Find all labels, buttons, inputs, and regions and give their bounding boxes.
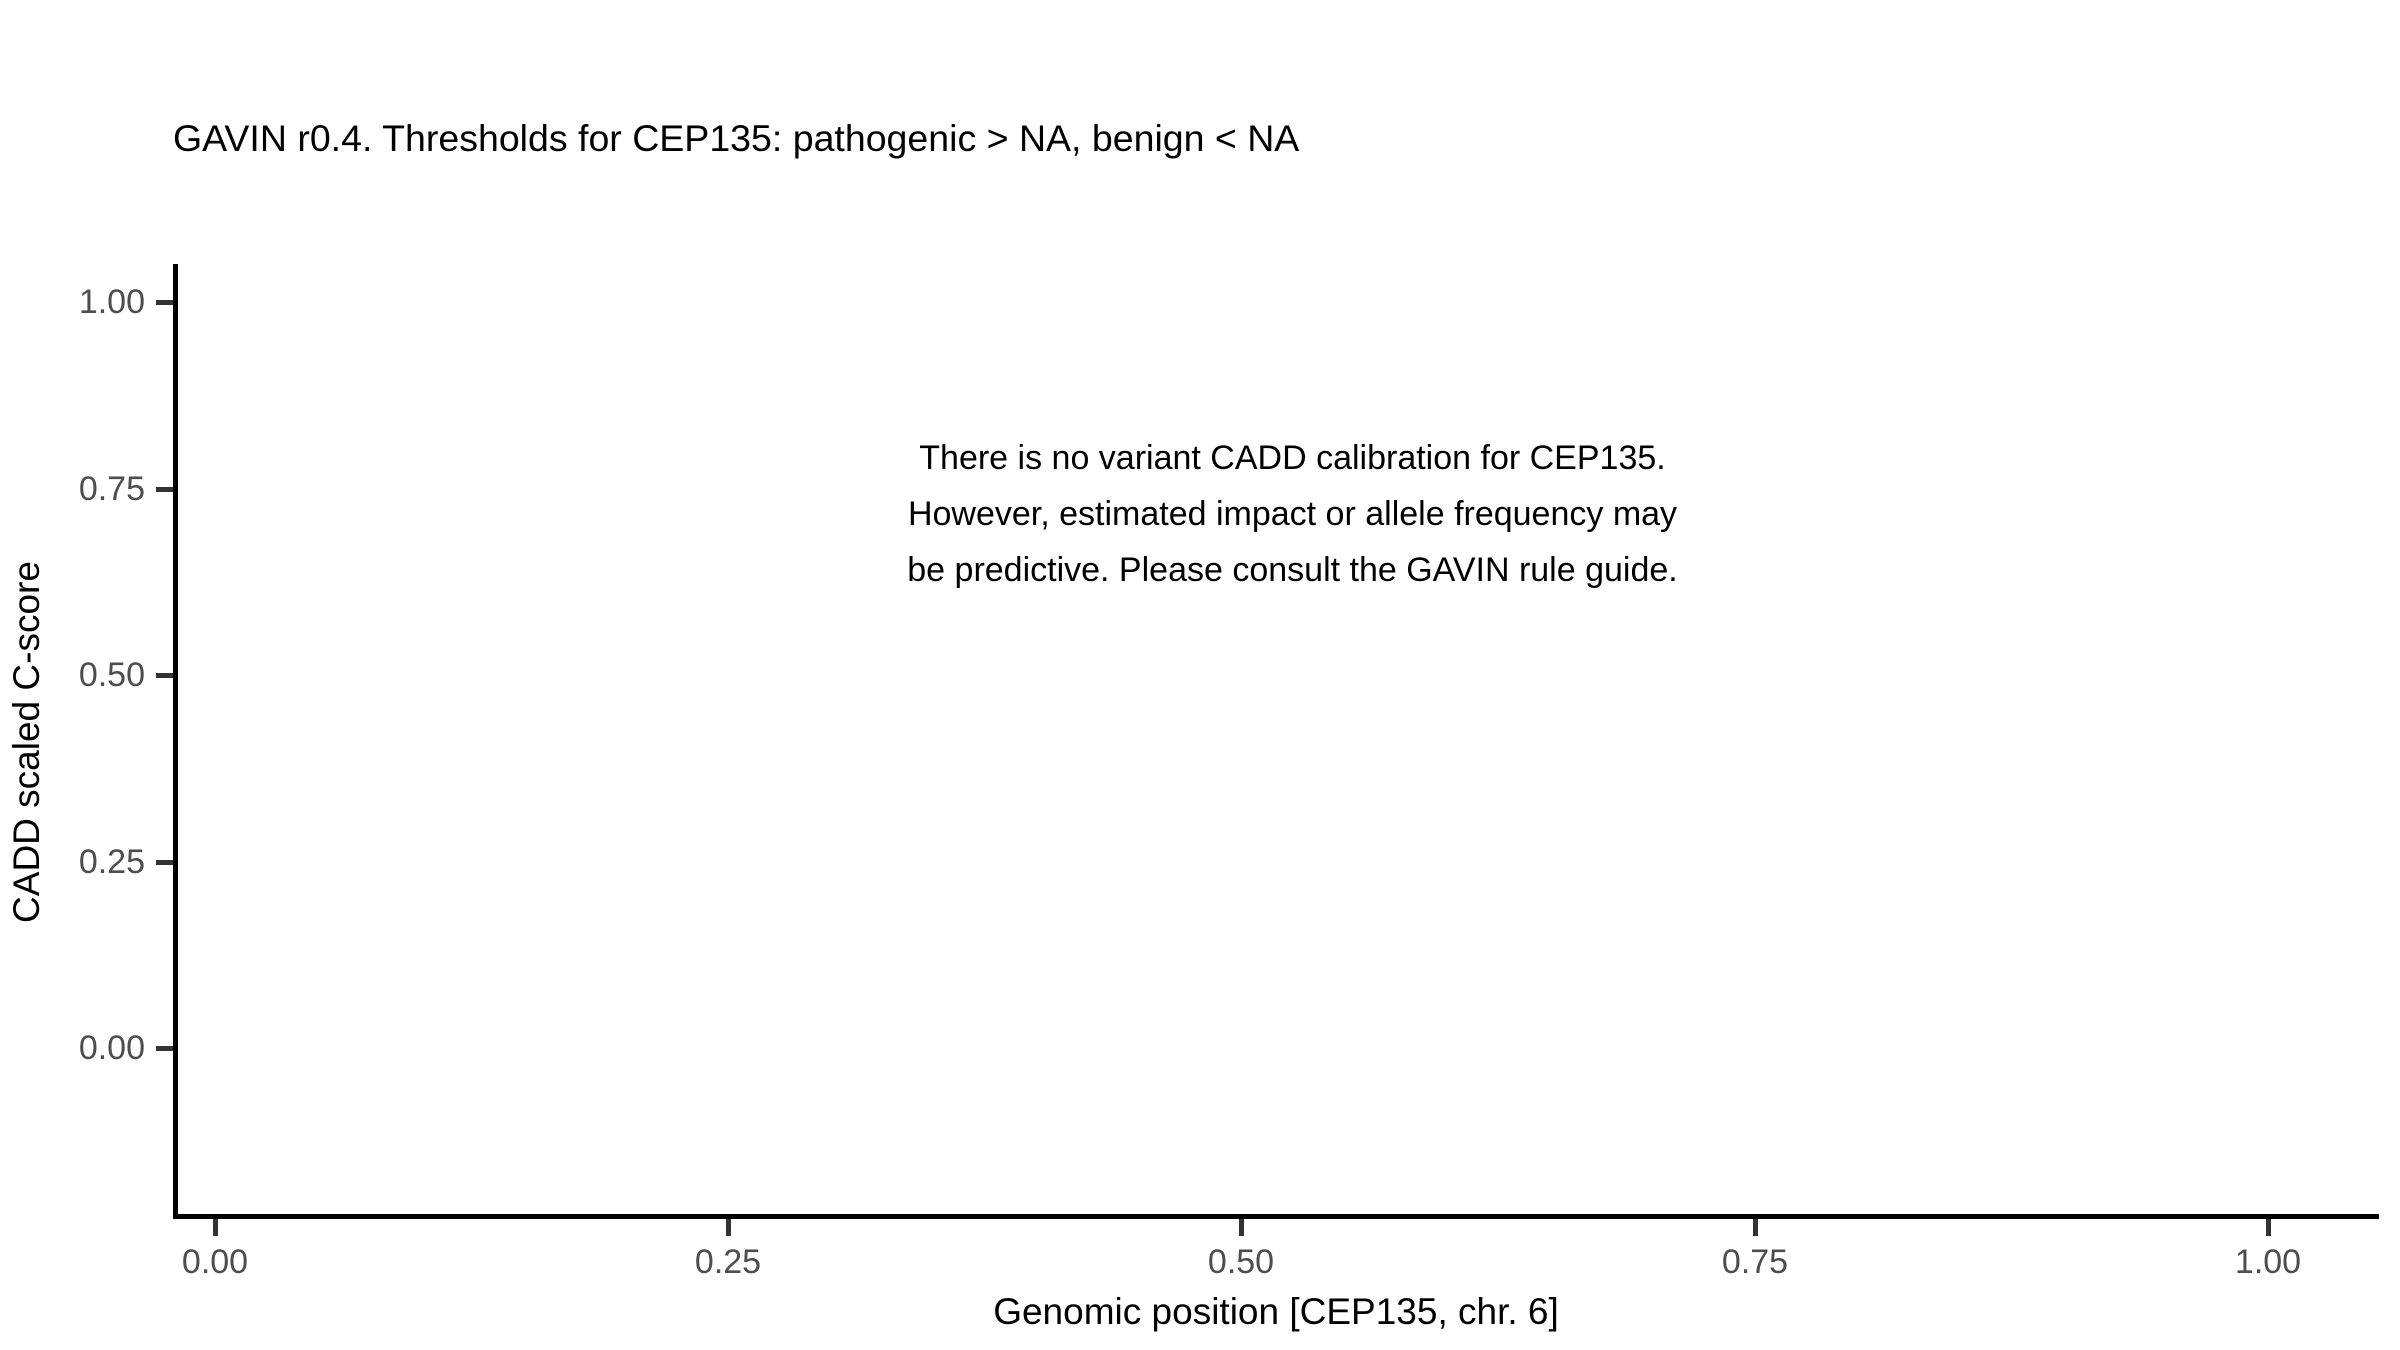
y-tick-mark-0.75: [156, 487, 173, 492]
x-tick-label-1.00: 1.00: [2235, 1245, 2301, 1279]
x-tick-mark-0.50: [1239, 1219, 1244, 1236]
y-tick-mark-0.50: [156, 673, 173, 678]
y-tick-label-1.00: 1.00: [79, 285, 145, 319]
plot-panel: There is no variant CADD calibration for…: [173, 268, 2379, 1216]
x-tick-mark-1.00: [2266, 1219, 2271, 1236]
x-tick-mark-0.25: [726, 1219, 731, 1236]
panel-annotation: There is no variant CADD calibration for…: [520, 430, 2065, 598]
plot-title-line-1: GAVIN r0.4. Thresholds for CEP135: patho…: [173, 112, 2273, 164]
x-tick-label-0.75: 0.75: [1722, 1245, 1788, 1279]
y-tick-label-0.75: 0.75: [79, 472, 145, 506]
y-tick-mark-1.00: [156, 300, 173, 305]
y-tick-mark-0.25: [156, 860, 173, 865]
panel-annotation-line-3: be predictive. Please consult the GAVIN …: [520, 542, 2065, 598]
y-tick-mark-0.00: [156, 1046, 173, 1051]
x-tick-label-0.25: 0.25: [695, 1245, 761, 1279]
y-tick-label-0.25: 0.25: [79, 845, 145, 879]
panel-annotation-line-2: However, estimated impact or allele freq…: [520, 486, 2065, 542]
x-axis-line: [173, 1214, 2379, 1219]
x-tick-label-0.50: 0.50: [1208, 1245, 1274, 1279]
y-tick-label-0.00: 0.00: [79, 1031, 145, 1065]
x-tick-label-0.00: 0.00: [182, 1245, 248, 1279]
y-tick-label-0.50: 0.50: [79, 658, 145, 692]
panel-annotation-line-1: There is no variant CADD calibration for…: [520, 430, 2065, 486]
plot-canvas: GAVIN r0.4. Thresholds for CEP135: patho…: [0, 0, 2400, 1350]
x-tick-mark-0.00: [213, 1219, 218, 1236]
x-tick-mark-0.75: [1753, 1219, 1758, 1236]
y-axis-line: [173, 264, 178, 1219]
y-axis-title: CADD scaled C-score: [0, 268, 54, 1216]
x-axis-title: Genomic position [CEP135, chr. 6]: [173, 1290, 2379, 1334]
